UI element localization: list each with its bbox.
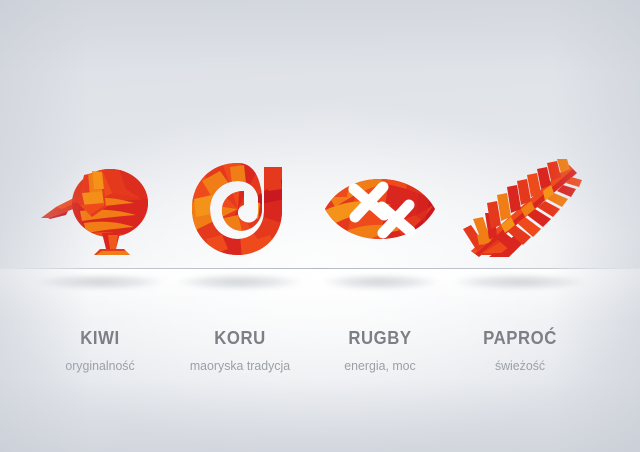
item-kiwi[interactable]: KIWI oryginalność (20, 150, 180, 452)
icon-shadow (34, 274, 166, 290)
fern-leaf-icon (440, 150, 600, 268)
poster-canvas: KIWI oryginalność (0, 0, 640, 452)
item-title: KIWI (26, 328, 175, 349)
item-subtitle: energia, moc (304, 358, 456, 373)
item-title: KORU (166, 328, 315, 349)
kiwi-bird-icon (20, 150, 180, 268)
koru-spiral-icon (160, 150, 320, 268)
item-subtitle: maoryska tradycja (164, 358, 316, 373)
item-koru[interactable]: KORU maoryska tradycja (160, 150, 320, 452)
item-rugby[interactable]: RUGBY energia, moc (300, 150, 460, 452)
rugby-ball-icon (300, 150, 460, 268)
item-subtitle: oryginalność (24, 358, 176, 373)
icon-shadow (321, 274, 439, 290)
item-title: PAPROĆ (446, 328, 595, 349)
item-subtitle: świeżość (444, 358, 596, 373)
item-paproc[interactable]: PAPROĆ świeżość (440, 150, 600, 452)
icon-shadow (176, 274, 304, 290)
icon-shadow (453, 274, 587, 290)
item-title: RUGBY (306, 328, 455, 349)
